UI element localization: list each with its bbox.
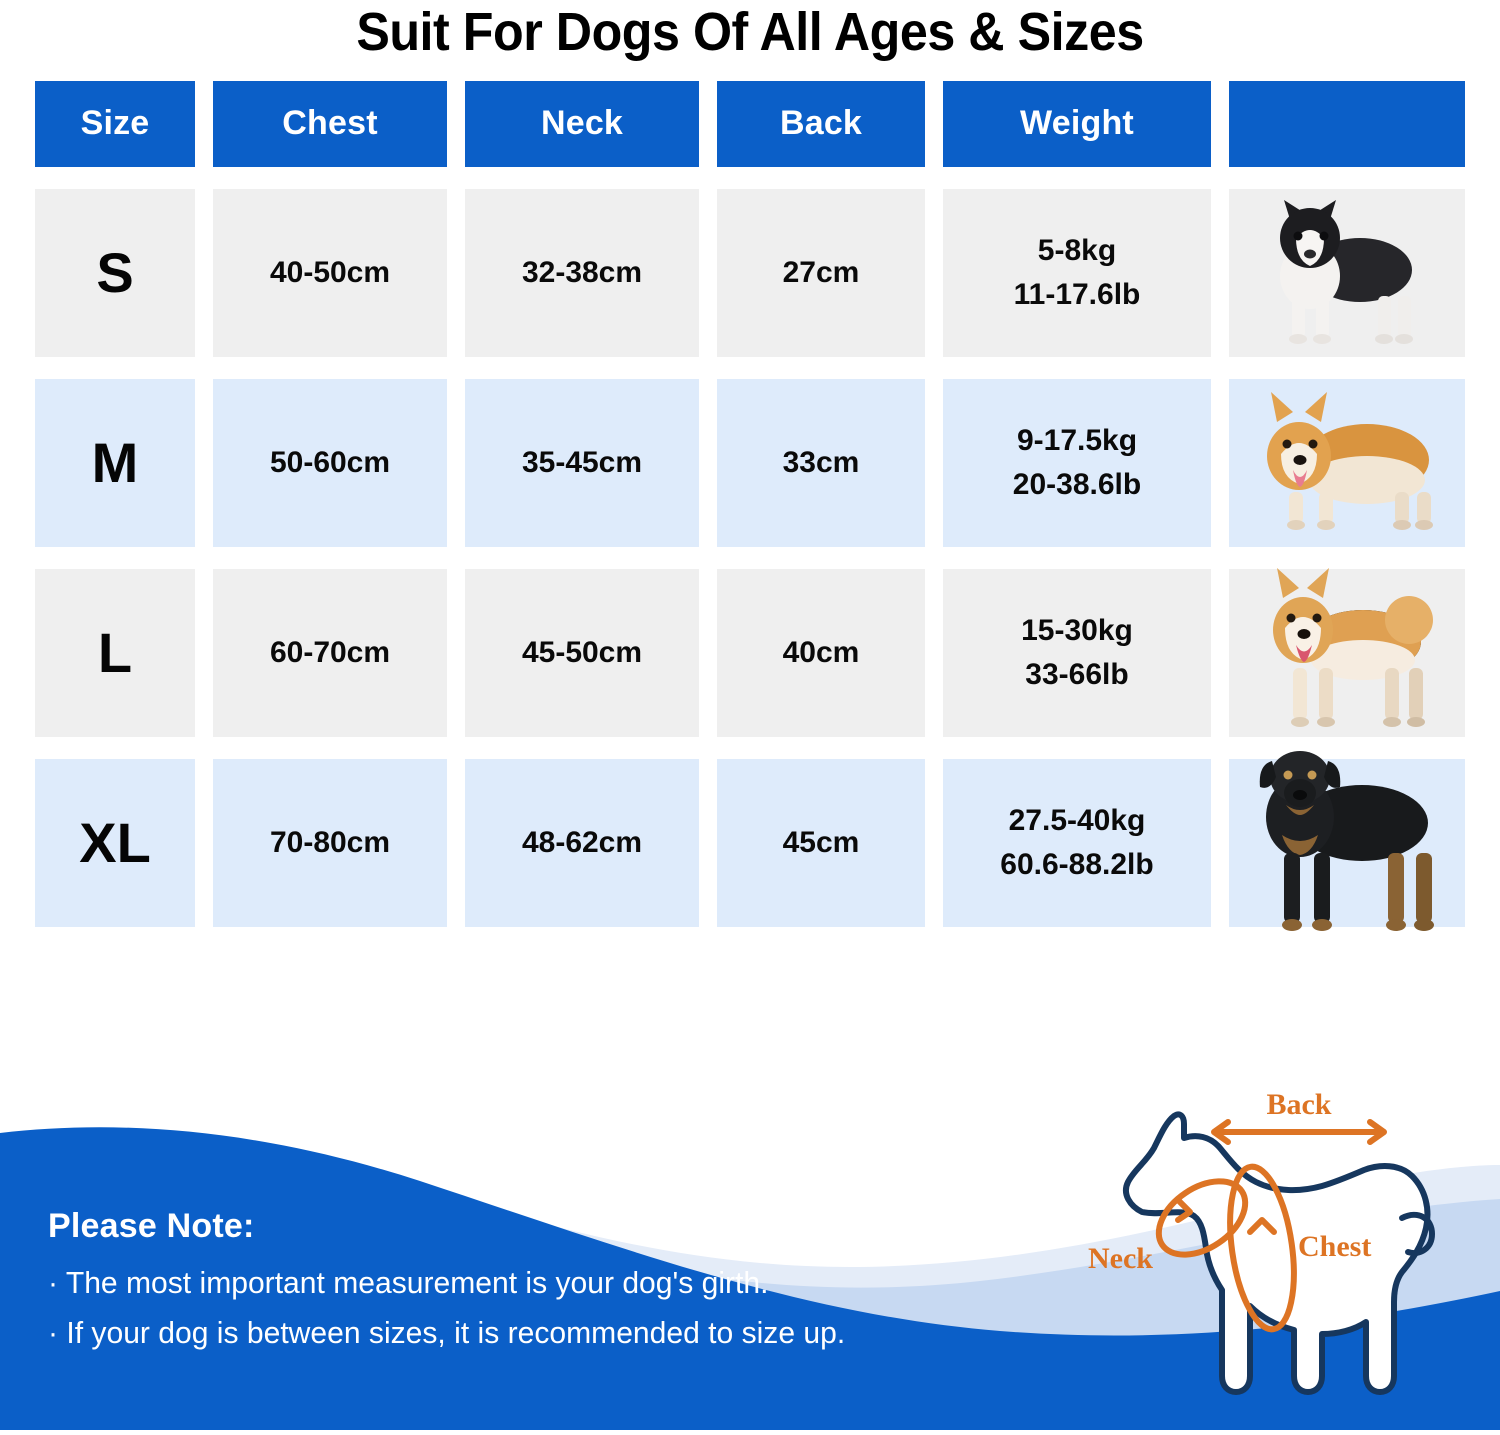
label-neck: Neck — [1088, 1242, 1153, 1275]
column-header-chest: Chest — [213, 81, 447, 167]
table-row: S 40-50cm 32-38cm 27cm 5-8kg 11-17.6lb — [35, 189, 1465, 357]
weight-lb: 33-66lb — [1025, 658, 1128, 691]
table-row: XL 70-80cm 48-62cm 45cm 27.5-40kg 60.6-8… — [35, 759, 1465, 927]
column-header-back: Back — [717, 81, 925, 167]
size-chart-table: Size Chest Neck Back Weight S 40-50cm 32… — [0, 81, 1500, 927]
french-bulldog-photo — [1229, 189, 1465, 357]
page-title: Suit For Dogs Of All Ages & Sizes — [53, 0, 1448, 61]
column-header-weight: Weight — [943, 81, 1211, 167]
label-chest: Chest — [1298, 1230, 1371, 1263]
cell-neck: 32-38cm — [465, 189, 699, 357]
cell-chest: 70-80cm — [213, 759, 447, 927]
bottom-note-panel: Please Note: · The most important measur… — [0, 1095, 1500, 1430]
cell-chest: 40-50cm — [213, 189, 447, 357]
column-header-image — [1229, 81, 1465, 167]
weight-kg: 27.5-40kg — [1009, 804, 1146, 837]
weight-kg: 15-30kg — [1021, 614, 1133, 647]
table-header-row: Size Chest Neck Back Weight — [35, 81, 1465, 167]
size-label: S — [96, 240, 133, 305]
cell-weight: 15-30kg 33-66lb — [943, 569, 1211, 737]
cell-chest: 50-60cm — [213, 379, 447, 547]
cell-dog-image — [1229, 759, 1465, 927]
cell-chest: 60-70cm — [213, 569, 447, 737]
note-heading: Please Note: — [48, 1207, 870, 1246]
cell-weight: 5-8kg 11-17.6lb — [943, 189, 1211, 357]
cell-dog-image — [1229, 189, 1465, 357]
cell-neck: 45-50cm — [465, 569, 699, 737]
corgi-photo — [1229, 379, 1465, 547]
cell-weight: 27.5-40kg 60.6-88.2lb — [943, 759, 1211, 927]
note-line-1: · The most important measurement is your… — [48, 1258, 845, 1308]
shiba-inu-photo — [1229, 569, 1465, 737]
rottweiler-photo — [1229, 759, 1465, 927]
column-header-size: Size — [35, 81, 195, 167]
weight-lb: 11-17.6lb — [1014, 278, 1141, 311]
size-label: L — [98, 620, 132, 685]
cell-size: XL — [35, 759, 195, 927]
please-note-block: Please Note: · The most important measur… — [48, 1207, 870, 1358]
back-arrow-icon — [1214, 1122, 1384, 1142]
size-label: M — [92, 430, 139, 495]
cell-back: 27cm — [717, 189, 925, 357]
table-row: L 60-70cm 45-50cm 40cm 15-30kg 33-66lb — [35, 569, 1465, 737]
cell-dog-image — [1229, 569, 1465, 737]
label-back: Back — [1266, 1090, 1331, 1121]
cell-size: M — [35, 379, 195, 547]
size-label: XL — [79, 810, 151, 875]
cell-size: S — [35, 189, 195, 357]
weight-lb: 20-38.6lb — [1013, 468, 1141, 501]
cell-weight: 9-17.5kg 20-38.6lb — [943, 379, 1211, 547]
table-row: M 50-60cm 35-45cm 33cm 9-17.5kg 20-38.6l… — [35, 379, 1465, 547]
cell-neck: 48-62cm — [465, 759, 699, 927]
cell-back: 40cm — [717, 569, 925, 737]
dog-measurement-diagram: Back Neck Chest — [1050, 1090, 1490, 1430]
column-header-neck: Neck — [465, 81, 699, 167]
weight-kg: 5-8kg — [1038, 234, 1116, 267]
cell-size: L — [35, 569, 195, 737]
cell-dog-image — [1229, 379, 1465, 547]
note-line-2: · If your dog is between sizes, it is re… — [48, 1308, 845, 1358]
weight-kg: 9-17.5kg — [1017, 424, 1137, 457]
cell-neck: 35-45cm — [465, 379, 699, 547]
cell-back: 33cm — [717, 379, 925, 547]
weight-lb: 60.6-88.2lb — [1000, 848, 1153, 881]
cell-back: 45cm — [717, 759, 925, 927]
